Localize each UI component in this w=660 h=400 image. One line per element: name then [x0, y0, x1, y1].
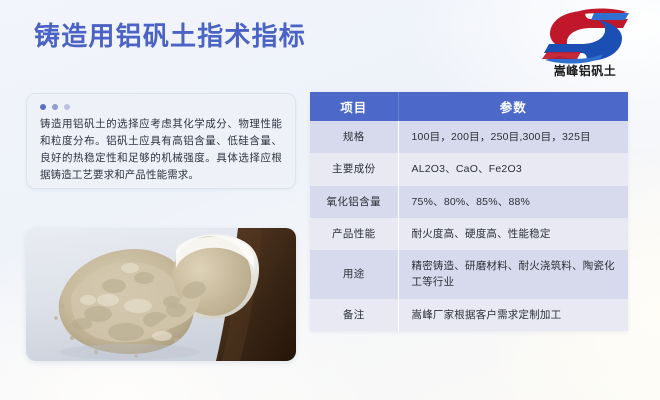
description-text: 铸造用铝矾土的选择应考虑其化学成分、物理性能和粒度分布。铝矾土应具有高铝含量、低… [40, 116, 282, 184]
description-card: 铸造用铝矾土的选择应考虑其化学成分、物理性能和粒度分布。铝矾土应具有高铝含量、低… [26, 93, 296, 189]
row-value: 75%、80%、85%、88% [398, 186, 628, 218]
row-value: 100目，200目，250目,300目，325目 [398, 121, 628, 153]
row-value: AL2O3、CaO、Fe2O3 [398, 153, 628, 185]
row-value: 嵩峰厂家根据客户需求定制加工 [398, 299, 628, 331]
row-key: 产品性能 [310, 218, 398, 250]
row-key: 规格 [310, 121, 398, 153]
page-title: 铸造用铝矾土指术指标 [34, 22, 306, 51]
bauxite-powder-image [26, 228, 296, 361]
table-row: 主要成份 AL2O3、CaO、Fe2O3 [310, 153, 628, 185]
column-header-item: 项目 [310, 92, 398, 121]
table-row: 规格 100目，200目，250目,300目，325目 [310, 121, 628, 153]
table-row: 备注 嵩峰厂家根据客户需求定制加工 [310, 299, 628, 331]
table-row: 用途 精密铸造、研磨材料、耐火浇筑料、陶瓷化工等行业 [310, 250, 628, 299]
dots-decoration [40, 104, 282, 110]
row-value: 耐火度高、硬度高、性能稳定 [398, 218, 628, 250]
stylized-s-logo-icon [539, 8, 631, 64]
dot-icon-3 [64, 104, 70, 110]
row-key: 备注 [310, 299, 398, 331]
row-key: 氧化铝含量 [310, 186, 398, 218]
row-key: 用途 [310, 250, 398, 299]
table-row: 产品性能 耐火度高、硬度高、性能稳定 [310, 218, 628, 250]
dot-icon-2 [52, 104, 58, 110]
table-row: 氧化铝含量 75%、80%、85%、88% [310, 186, 628, 218]
row-key: 主要成份 [310, 153, 398, 185]
dot-icon-1 [40, 104, 46, 110]
row-value: 精密铸造、研磨材料、耐火浇筑料、陶瓷化工等行业 [398, 250, 628, 299]
brand-name: 嵩峰铝矾土 [524, 62, 646, 79]
column-header-parameter: 参数 [398, 92, 628, 121]
table-header-row: 项目 参数 [310, 92, 628, 121]
product-photo [26, 228, 296, 361]
brand-logo: 嵩峰铝矾土 [524, 8, 646, 84]
specification-table: 项目 参数 规格 100目，200目，250目,300目，325目 主要成份 A… [310, 92, 628, 331]
slide-canvas: 铸造用铝矾土指术指标 嵩峰铝矾土 铸造用铝矾土的选择应考虑其化学成分、物理性能和… [0, 0, 660, 400]
